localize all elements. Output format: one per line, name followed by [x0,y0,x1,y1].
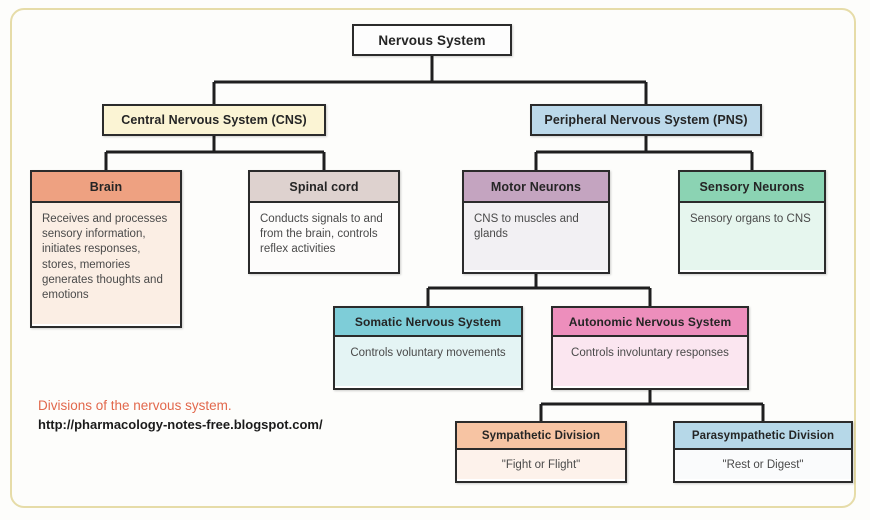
node-central-nervous-system[interactable]: Central Nervous System (CNS) [102,104,326,136]
node-sensory-neurons-title: Sensory Neurons [680,172,824,203]
node-somatic-nervous-system-description: Controls voluntary movements [335,337,521,386]
node-nervous-system[interactable]: Nervous System [352,24,512,56]
caption-source-url[interactable]: http://pharmacology-notes-free.blogspot.… [38,416,418,435]
node-sympathetic-division-description: "Fight or Flight" [457,450,625,479]
node-autonomic-nervous-system-description: Controls involuntary responses [553,337,747,386]
node-sympathetic-division[interactable]: Sympathetic Division "Fight or Flight" [455,421,627,483]
node-spinal-cord-title: Spinal cord [250,172,398,203]
node-parasympathetic-division-description: "Rest or Digest" [675,450,851,479]
node-sensory-neurons-description: Sensory organs to CNS [680,203,824,270]
diagram-canvas: Nervous System Central Nervous System (C… [0,0,870,520]
node-autonomic-nervous-system[interactable]: Autonomic Nervous System Controls involu… [551,306,749,390]
node-motor-neurons[interactable]: Motor Neurons CNS to muscles and glands [462,170,610,274]
node-sympathetic-division-title: Sympathetic Division [457,423,625,450]
node-brain[interactable]: Brain Receives and processes sensory inf… [30,170,182,328]
node-somatic-nervous-system-title: Somatic Nervous System [335,308,521,337]
node-parasympathetic-division-title: Parasympathetic Division [675,423,851,450]
node-somatic-nervous-system[interactable]: Somatic Nervous System Controls voluntar… [333,306,523,390]
node-spinal-cord-description: Conducts signals to and from the brain, … [250,203,398,270]
node-brain-description: Receives and processes sensory informati… [32,203,180,324]
caption-block: Divisions of the nervous system. http://… [38,396,418,434]
node-brain-title: Brain [32,172,180,203]
node-parasympathetic-division[interactable]: Parasympathetic Division "Rest or Digest… [673,421,853,483]
node-peripheral-nervous-system[interactable]: Peripheral Nervous System (PNS) [530,104,762,136]
node-autonomic-nervous-system-title: Autonomic Nervous System [553,308,747,337]
caption-title: Divisions of the nervous system. [38,396,418,416]
node-spinal-cord[interactable]: Spinal cord Conducts signals to and from… [248,170,400,274]
node-motor-neurons-description: CNS to muscles and glands [464,203,608,270]
node-motor-neurons-title: Motor Neurons [464,172,608,203]
node-sensory-neurons[interactable]: Sensory Neurons Sensory organs to CNS [678,170,826,274]
node-central-nervous-system-title: Central Nervous System (CNS) [104,106,324,134]
node-peripheral-nervous-system-title: Peripheral Nervous System (PNS) [532,106,760,134]
node-nervous-system-title: Nervous System [354,26,510,54]
